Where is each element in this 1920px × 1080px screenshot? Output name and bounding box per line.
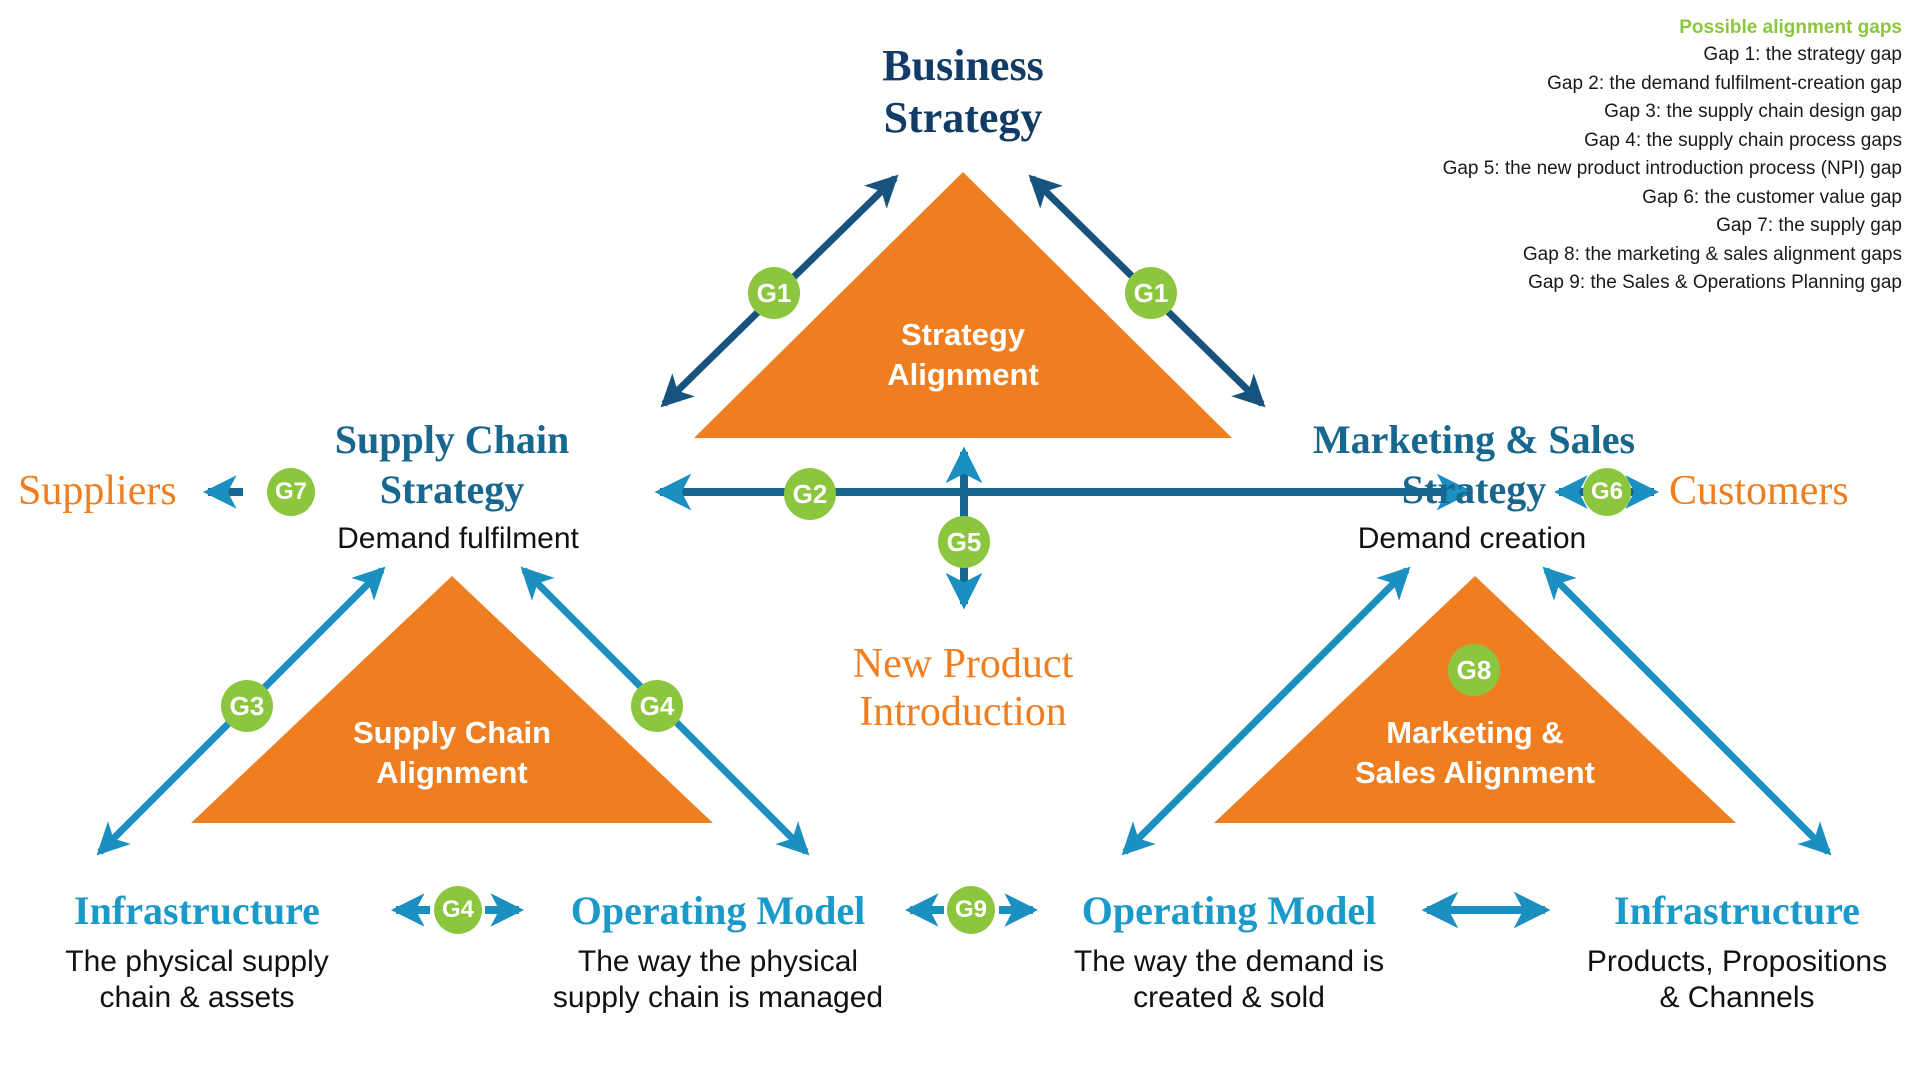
npi-line-2: Introduction <box>853 688 1073 736</box>
infra-right-desc-line-1: Products, Propositions <box>1587 944 1887 980</box>
supply-chain-strategy-line-2: Strategy <box>335 465 570 515</box>
gap-badge-g5[interactable]: G5 <box>938 516 990 568</box>
label-demand-fulfilment: Demand fulfilment <box>337 521 579 557</box>
diagram-canvas: Possible alignment gaps Gap 1: the strat… <box>0 0 1920 1080</box>
supply-chain-alignment-line-2: Alignment <box>353 753 551 793</box>
node-operating-model-right: Operating Model <box>1082 888 1376 934</box>
node-operating-model-left: Operating Model <box>571 888 865 934</box>
node-supply-chain-strategy: Supply Chain Strategy <box>335 415 570 515</box>
desc-infrastructure-right: Products, Propositions & Channels <box>1587 944 1887 1016</box>
marketing-sales-alignment-line-1: Marketing & <box>1355 713 1595 753</box>
node-business-strategy: Business Strategy <box>882 40 1043 144</box>
supply-chain-alignment-line-1: Supply Chain <box>353 713 551 753</box>
legend: Possible alignment gaps Gap 1: the strat… <box>1443 14 1902 298</box>
legend-item: Gap 8: the marketing & sales alignment g… <box>1443 241 1902 270</box>
gap-badge-g4-triangle[interactable]: G4 <box>631 680 683 732</box>
marketing-sales-strategy-line-1: Marketing & Sales <box>1313 415 1635 465</box>
legend-title: Possible alignment gaps <box>1443 14 1902 41</box>
opmodel-left-desc-line-1: The way the physical <box>553 944 883 980</box>
supply-chain-strategy-line-1: Supply Chain <box>335 415 570 465</box>
legend-item: Gap 6: the customer value gap <box>1443 184 1902 213</box>
legend-item: Gap 4: the supply chain process gaps <box>1443 127 1902 156</box>
label-demand-creation: Demand creation <box>1358 521 1586 557</box>
infra-left-desc-line-1: The physical supply <box>65 944 328 980</box>
desc-infrastructure-left: The physical supply chain & assets <box>65 944 328 1016</box>
strategy-alignment-line-2: Alignment <box>887 355 1039 395</box>
strategy-alignment-line-1: Strategy <box>887 315 1039 355</box>
node-new-product-introduction: New Product Introduction <box>853 640 1073 736</box>
desc-operating-model-left: The way the physical supply chain is man… <box>553 944 883 1016</box>
gap-badge-g4-bottom[interactable]: G4 <box>434 886 482 934</box>
node-customers: Customers <box>1669 468 1849 514</box>
gap-badge-g7[interactable]: G7 <box>267 468 315 516</box>
desc-operating-model-right: The way the demand is created & sold <box>1074 944 1384 1016</box>
label-marketing-sales-alignment: Marketing & Sales Alignment <box>1355 713 1595 793</box>
legend-item: Gap 2: the demand fulfilment-creation ga… <box>1443 70 1902 99</box>
gap-badge-g1-right[interactable]: G1 <box>1125 267 1177 319</box>
business-strategy-line-2: Strategy <box>882 92 1043 144</box>
opmodel-right-desc-line-2: created & sold <box>1074 980 1384 1016</box>
legend-item: Gap 7: the supply gap <box>1443 212 1902 241</box>
gap-badge-g9[interactable]: G9 <box>947 886 995 934</box>
business-strategy-line-1: Business <box>882 40 1043 92</box>
gap-badge-g8[interactable]: G8 <box>1448 644 1500 696</box>
node-suppliers: Suppliers <box>18 468 177 514</box>
gap-badge-g1-left[interactable]: G1 <box>748 267 800 319</box>
label-supply-chain-alignment: Supply Chain Alignment <box>353 713 551 793</box>
opmodel-right-desc-line-1: The way the demand is <box>1074 944 1384 980</box>
infra-left-desc-line-2: chain & assets <box>65 980 328 1016</box>
node-infrastructure-right: Infrastructure <box>1614 888 1860 934</box>
gap-badge-g2[interactable]: G2 <box>784 468 836 520</box>
label-strategy-alignment: Strategy Alignment <box>887 315 1039 395</box>
infra-right-desc-line-2: & Channels <box>1587 980 1887 1016</box>
legend-item: Gap 1: the strategy gap <box>1443 41 1902 70</box>
npi-line-1: New Product <box>853 640 1073 688</box>
node-infrastructure-left: Infrastructure <box>74 888 320 934</box>
marketing-sales-alignment-line-2: Sales Alignment <box>1355 753 1595 793</box>
gap-badge-g3[interactable]: G3 <box>221 680 273 732</box>
legend-item: Gap 5: the new product introduction proc… <box>1443 155 1902 184</box>
legend-item: Gap 9: the Sales & Operations Planning g… <box>1443 269 1902 298</box>
legend-item: Gap 3: the supply chain design gap <box>1443 98 1902 127</box>
opmodel-left-desc-line-2: supply chain is managed <box>553 980 883 1016</box>
gap-badge-g6[interactable]: G6 <box>1583 468 1631 516</box>
